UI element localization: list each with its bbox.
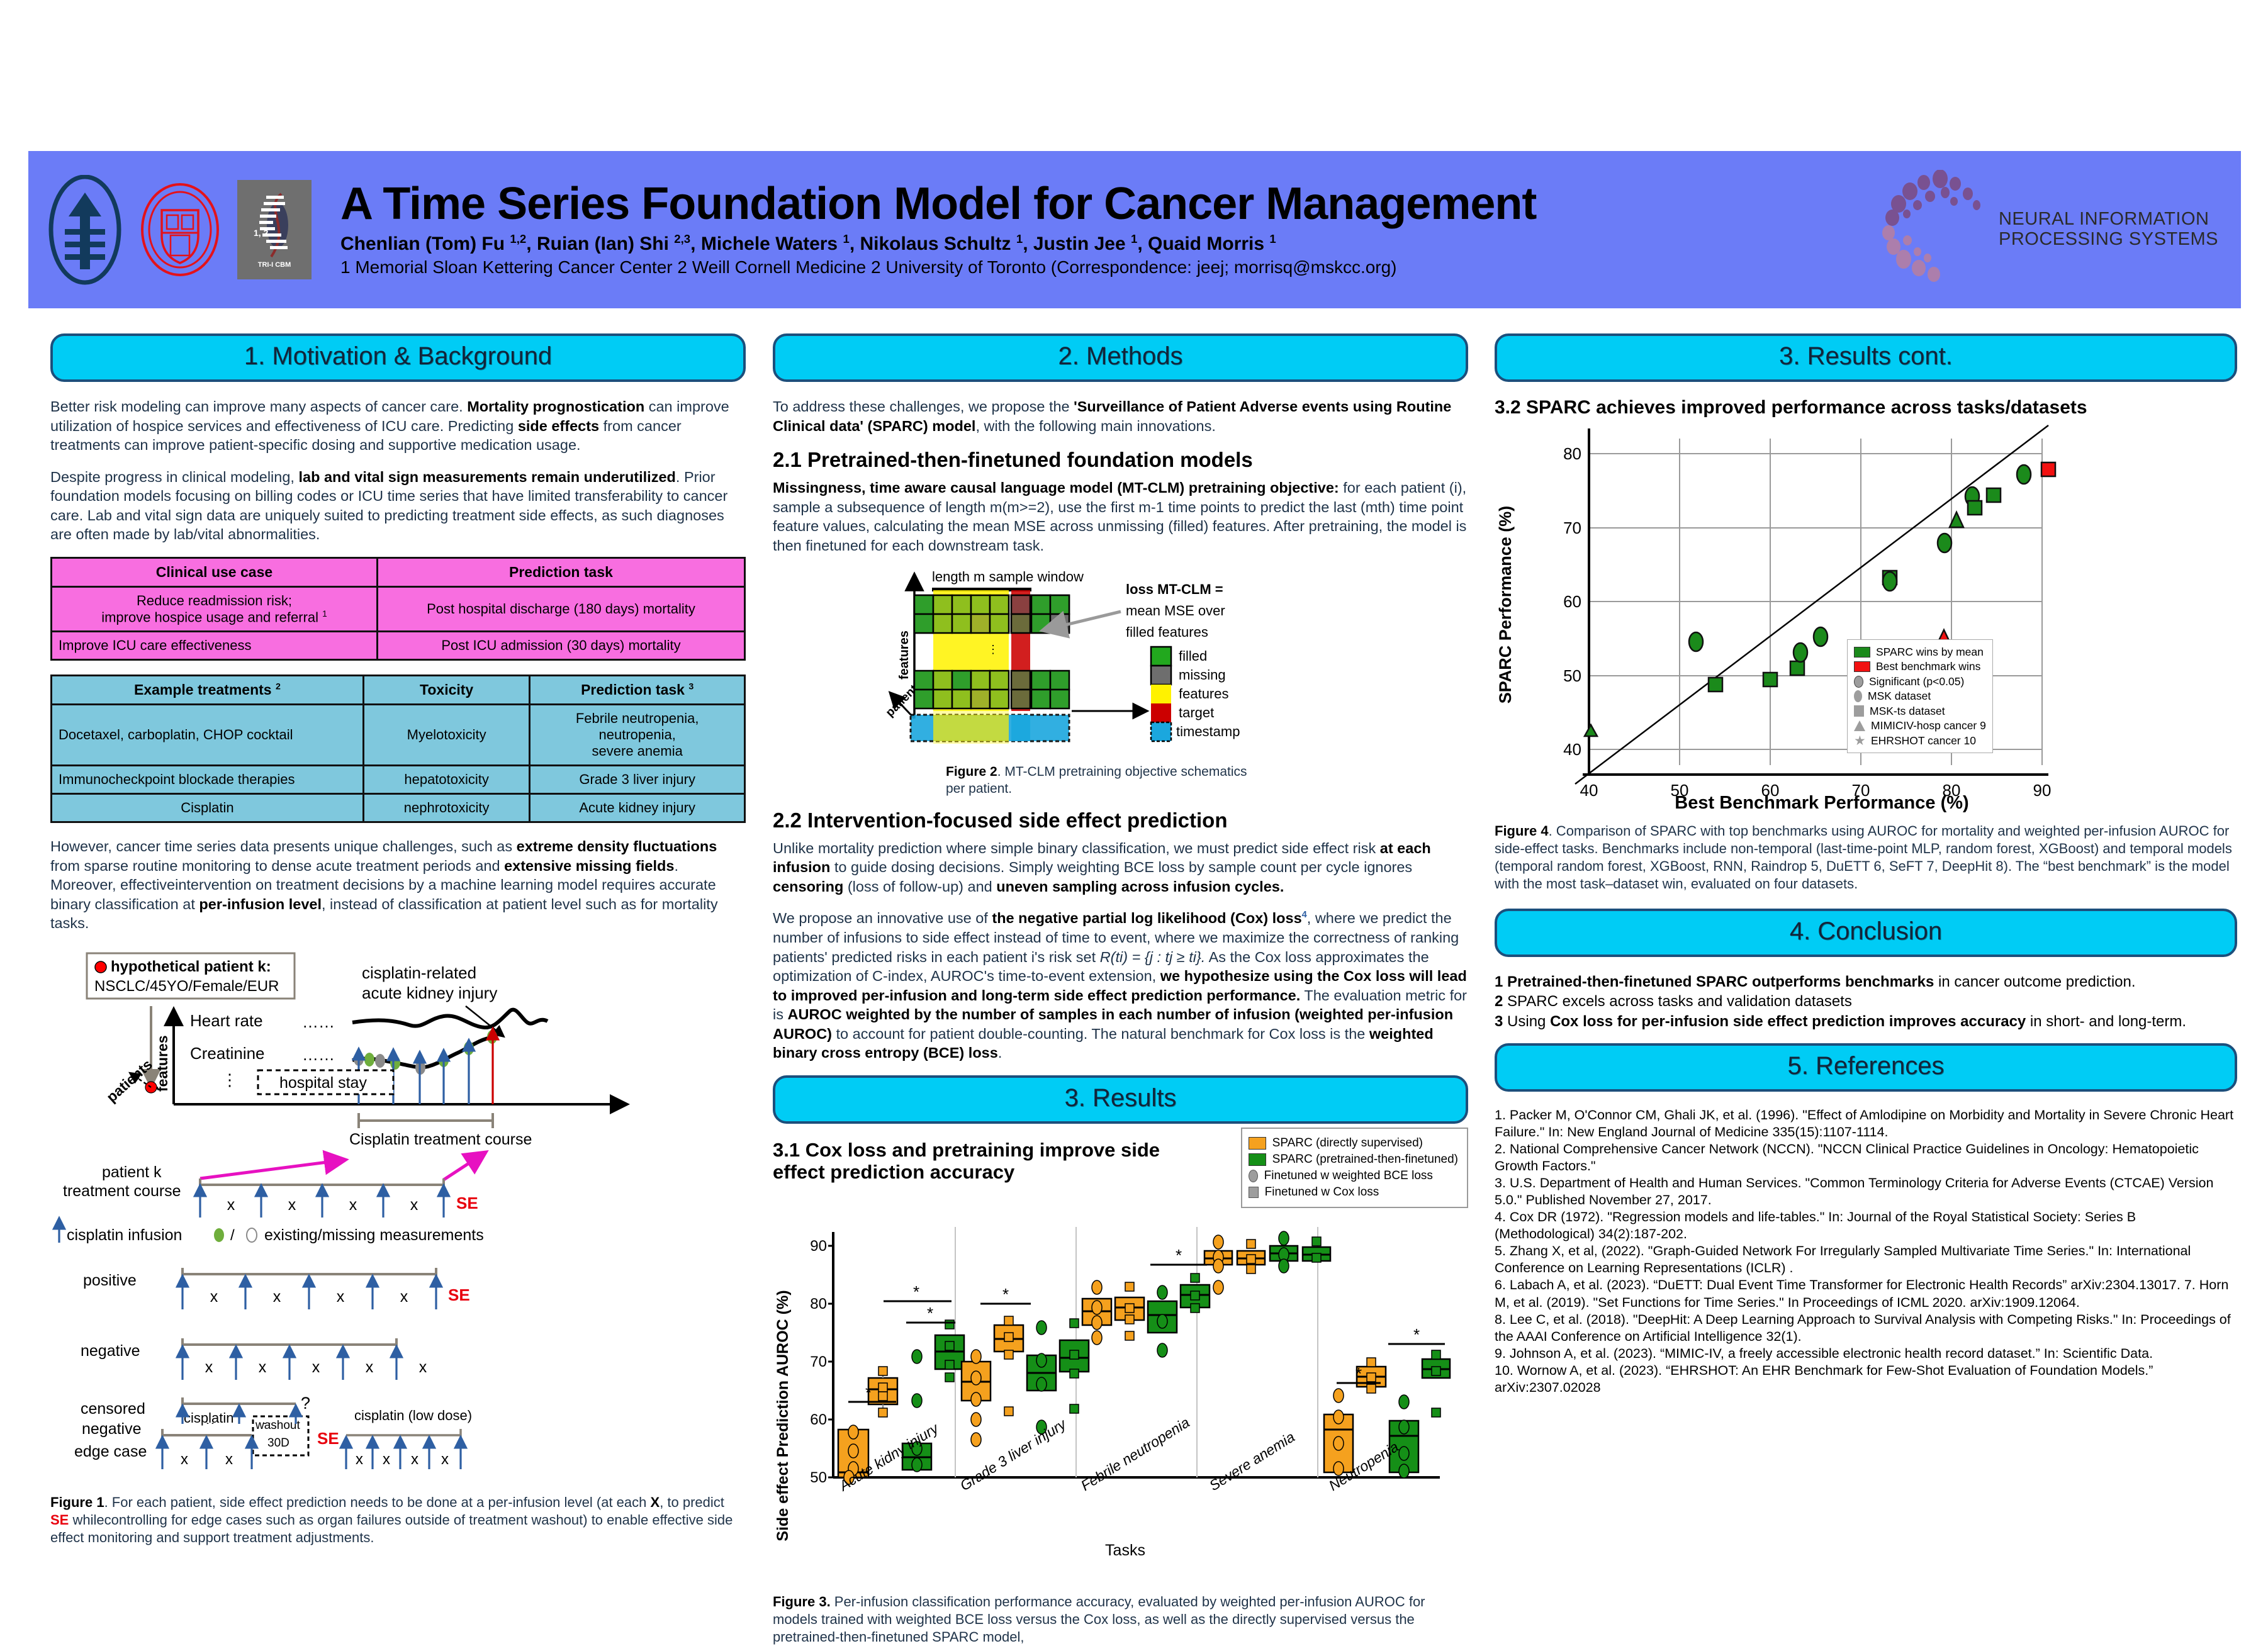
fig4-xtick: 40 — [1580, 781, 1598, 800]
list-item: 4. Cox DR (1972). "Regression models and… — [1495, 1209, 2237, 1243]
fig1-se-label: SE — [448, 1285, 470, 1304]
legend-label: MSK dataset — [1868, 690, 1931, 703]
clinical-use-case-table: Clinical use case Prediction task Reduce… — [50, 557, 746, 661]
fig1-x-mark: x — [411, 1451, 418, 1468]
neurips-swirl-icon — [1880, 170, 1990, 289]
text-run: , with the following main innovations. — [975, 418, 1215, 434]
fig4-ylabel: SPARC Performance (%) — [1496, 506, 1515, 704]
fig3-xtick: Severe anemia — [1206, 1428, 1298, 1494]
fig3-sig-mark: * — [1176, 1246, 1182, 1265]
conclusion-item-1: 1 Pretrained-then-finetuned SPARC outper… — [1495, 972, 2237, 992]
fig1-x-mark: x — [337, 1288, 345, 1306]
conclusion-number: 3 — [1495, 1013, 1503, 1030]
table-header-row: Clinical use case Prediction task — [52, 557, 745, 586]
list-item: 8. Lee C, et al. (2018). "DeepHit: A Dee… — [1495, 1311, 2237, 1345]
fig2-loss-line3: filled features — [1126, 624, 1208, 640]
legend-marker-ellipse — [1249, 1170, 1258, 1182]
conclusion-bold: Cox loss for per-infusion side effect pr… — [1550, 1013, 2026, 1030]
fig3-sig-mark: * — [1002, 1285, 1009, 1304]
page-title: A Time Series Foundation Model for Cance… — [340, 181, 1880, 227]
text-bold: extensive missing fields — [504, 858, 674, 874]
neurips-line-1: NEURAL INFORMATION — [1999, 210, 2218, 230]
fig1-x-mark: x — [210, 1288, 218, 1306]
text-bold: Mortality prognostication — [467, 398, 644, 415]
neurips-line-2: PROCESSING SYSTEMS — [1999, 230, 2218, 250]
fig2-axis-features: features — [897, 630, 911, 680]
text-bold: Missingness, time aware causal language … — [773, 479, 1339, 496]
fig1-x-mark: x — [441, 1451, 449, 1468]
table-header-row: Example treatments 2 Toxicity Prediction… — [52, 676, 745, 705]
caption-text: . For each patient, side effect predicti… — [104, 1494, 651, 1510]
fig3-xtick: Febrile neutropenia — [1078, 1414, 1193, 1494]
conclusion-text: SPARC excels across tasks and validation… — [1507, 993, 1852, 1010]
legend-marker-mskts — [1854, 705, 1864, 717]
methods-22-paragraph-1: Unlike mortality prediction where simple… — [773, 839, 1468, 897]
fig1-x-mark: x — [356, 1451, 363, 1468]
fig1-feature-creatinine: Creatinine — [190, 1044, 265, 1063]
fig1-question-mark: ? — [301, 1394, 310, 1413]
fig1-x-mark: x — [225, 1451, 233, 1468]
figure-4-legend: SPARC wins by mean Best benchmark wins S… — [1847, 639, 1993, 753]
legend-swatch-orange — [1249, 1137, 1266, 1150]
text-run: Unlike mortality prediction where simple… — [773, 840, 1380, 856]
figure-1-caption: Figure 1. For each patient, side effect … — [50, 1494, 746, 1547]
table-header-cell: Prediction task 3 — [530, 676, 745, 705]
figure-4-caption: Figure 4. Comparison of SPARC with top b… — [1495, 822, 2237, 893]
figure-3-svg: Side effect Prediction AUROC (%) 50 60 7… — [773, 1227, 1468, 1567]
section-header-conclusion: 4. Conclusion — [1495, 909, 2237, 957]
fig1-se-label: SE — [456, 1194, 478, 1212]
legend-item: MSK dataset — [1854, 690, 1986, 703]
subsection-3-2-heading: 3.2 SPARC achieves improved performance … — [1495, 397, 2237, 418]
table-row: Cisplatin nephrotoxicity Acute kidney in… — [52, 794, 745, 822]
tri-logo-superscript: 1, 2 — [254, 228, 269, 238]
text-bold: side effects — [518, 418, 599, 434]
text-run: (loss of follow-up) and — [843, 878, 996, 895]
fig4-ytick: 70 — [1563, 518, 1581, 537]
text-run: Better risk modeling can improve many as… — [50, 398, 467, 415]
fig1-x-mark: x — [366, 1358, 374, 1376]
fig3-ytick: 60 — [810, 1411, 827, 1428]
table-header-cell: Clinical use case — [52, 557, 378, 586]
section-header-results-cont: 3. Results cont. — [1495, 333, 2237, 382]
fig1-edge-line2: edge case — [74, 1443, 147, 1460]
fig1-legend-measurements: existing/missing measurements — [264, 1226, 484, 1244]
fig2-legend-timestamp: timestamp — [1176, 724, 1240, 739]
fig1-x-mark: x — [259, 1358, 267, 1376]
math-expression: R(ti) = {j : tj ≥ ti}. — [1100, 949, 1206, 965]
fig2-loss-line1: loss MT-CLM = — [1126, 581, 1223, 597]
legend-item: ★EHRSHOT cancer 10 — [1854, 734, 1986, 747]
text-run: However, cancer time series data present… — [50, 838, 517, 854]
table-cell: hepatotoxicity — [363, 766, 529, 794]
figure-3-caption: Figure 3. Per-infusion classification pe… — [773, 1593, 1468, 1646]
figure-1-diagram: hypothetical patient k: NSCLC/45YO/Femal… — [50, 946, 746, 1424]
column-motivation: 1. Motivation & Background Better risk m… — [50, 333, 746, 1547]
legend-label: Finetuned w Cox loss — [1265, 1185, 1379, 1199]
fig1-patientk-line2: treatment course — [63, 1182, 181, 1200]
fig1-x-mark: x — [181, 1451, 188, 1468]
fig1-dots-2: …… — [302, 1045, 335, 1064]
table-header-cell: Prediction task — [377, 557, 744, 586]
caption-label: Figure 3. — [773, 1594, 831, 1610]
fig1-x-mark: x — [206, 1418, 215, 1424]
legend-item: SPARC (directly supervised) — [1249, 1136, 1458, 1150]
msk-logo-icon — [47, 175, 123, 285]
fig1-feature-heart-rate: Heart rate — [190, 1011, 263, 1030]
motivation-paragraph-3: However, cancer time series data present… — [50, 837, 746, 933]
table-cell: Improve ICU care effectiveness — [52, 632, 378, 660]
conclusion-item-3: 3 Using Cox loss for per-infusion side e… — [1495, 1012, 2237, 1032]
table-row: Immunocheckpoint blockade therapies hepa… — [52, 766, 745, 794]
figure-4-chart: SPARC wins by mean Best benchmark wins S… — [1495, 422, 2237, 825]
caption-text: . Comparison of SPARC with top benchmark… — [1495, 823, 2232, 892]
fig3-ytick: 90 — [810, 1238, 827, 1255]
figure-2-diagram: features patients length m sample window — [773, 568, 1468, 763]
fig3-ytick: 80 — [810, 1296, 827, 1313]
fig1-legend-infusion: cisplatin infusion — [67, 1226, 182, 1244]
figure-3-chart: 3.1 Cox loss and pretraining improve sid… — [773, 1139, 1468, 1504]
conclusion-item-2: 2 SPARC excels across tasks and validati… — [1495, 992, 2237, 1012]
legend-label: MSK-ts dataset — [1870, 705, 1945, 718]
text-bold: lab and vital sign measurements remain u… — [298, 469, 675, 485]
table-row: Docetaxel, carboplatin, CHOP cocktail My… — [52, 705, 745, 766]
table-cell: Reduce readmission risk;improve hospice … — [52, 586, 378, 631]
legend-label: Significant (p<0.05) — [1869, 675, 1964, 688]
section-header-results: 3. Results — [773, 1075, 1468, 1124]
list-item: 9. Johnson A, et al. (2023). “MIMIC-IV, … — [1495, 1345, 2237, 1362]
table-cell: Acute kidney injury — [530, 794, 745, 822]
fig2-legend-features: features — [1179, 686, 1229, 702]
legend-label: SPARC wins by mean — [1876, 646, 1984, 659]
fig1-annot-line2: acute kidney injury — [362, 983, 497, 1002]
table-cell: Post hospital discharge (180 days) morta… — [377, 586, 744, 631]
fig1-edge-30d: 30D — [267, 1436, 289, 1450]
legend-label: Best benchmark wins — [1876, 660, 1980, 673]
caption-se: SE — [50, 1512, 69, 1528]
methods-intro-paragraph: To address these challenges, we propose … — [773, 397, 1468, 435]
fig4-ytick: 50 — [1563, 666, 1581, 685]
fig1-hospital-stay: hospital stay — [279, 1074, 367, 1092]
fig1-x-mark: x — [400, 1288, 408, 1306]
author-list: Chenlian (Tom) Fu 1,2, Ruian (Ian) Shi 2… — [340, 232, 1880, 256]
neurips-logo-group: NEURAL INFORMATION PROCESSING SYSTEMS — [1880, 170, 2241, 289]
section-header-methods: 2. Methods — [773, 333, 1468, 382]
text-run: To address these challenges, we propose … — [773, 398, 1074, 415]
caption-label: Figure 2 — [946, 764, 997, 779]
list-item: 3. U.S. Department of Health and Human S… — [1495, 1175, 2237, 1209]
conclusion-text: in cancer outcome prediction. — [1934, 973, 2135, 990]
fig1-course-label: Cisplatin treatment course — [349, 1131, 532, 1148]
fig3-sig-mark: * — [1356, 1364, 1362, 1383]
fig1-x-mark: x — [288, 1196, 296, 1214]
section-header-references: 5. References — [1495, 1043, 2237, 1092]
fig1-x-mark: x — [410, 1196, 418, 1214]
fig3-sig-mark: * — [865, 1383, 872, 1402]
table-cell: Myelotoxicity — [363, 705, 529, 766]
fig4-ytick: 80 — [1563, 444, 1581, 463]
list-item: 2. National Comprehensive Cancer Network… — [1495, 1141, 2237, 1175]
conclusion-number: 1 — [1495, 973, 1503, 990]
fig2-legend-missing: missing — [1179, 667, 1226, 683]
legend-marker-ehrshot: ★ — [1854, 734, 1865, 747]
table-cell: Cisplatin — [52, 794, 364, 822]
fig4-xlabel: Best Benchmark Performance (%) — [1675, 793, 1968, 812]
fig2-loss-line2: mean MSE over — [1126, 603, 1225, 619]
reference-superscript: 4 — [1302, 910, 1307, 921]
legend-marker-square — [1249, 1187, 1259, 1198]
figure-3-legend: SPARC (directly supervised) SPARC (pretr… — [1241, 1128, 1468, 1208]
column-results-conclusion: 3. Results cont. 3.2 SPARC achieves impr… — [1495, 333, 2237, 1396]
legend-swatch-green — [1249, 1153, 1266, 1166]
table-cell: Immunocheckpoint blockade therapies — [52, 766, 364, 794]
table-header-cell: Example treatments 2 — [52, 676, 364, 705]
affiliation-list: 1 Memorial Sloan Kettering Cancer Center… — [340, 256, 1880, 278]
example-treatments-table: Example treatments 2 Toxicity Prediction… — [50, 675, 746, 823]
list-item: 5. Zhang X, et al, (2022). "Graph-Guided… — [1495, 1243, 2237, 1277]
text-run: from sparse routine monitoring to dense … — [50, 858, 504, 874]
text-run: to guide dosing decisions. Simply weight… — [830, 859, 1412, 875]
fig1-legend-slash: / — [230, 1227, 235, 1244]
figure-1-svg: hypothetical patient k: NSCLC/45YO/Femal… — [50, 946, 746, 1424]
legend-label: MIMICIV-hosp cancer 9 — [1871, 719, 1986, 732]
text-run: Despite progress in clinical modeling, — [50, 469, 298, 485]
list-item: 10. Wornow A, et al. (2023). “EHRSHOT: A… — [1495, 1362, 2237, 1396]
conclusion-text: in short- and long-term. — [2026, 1013, 2186, 1030]
caption-text: Per-infusion classification performance … — [773, 1594, 1425, 1645]
neurips-label: NEURAL INFORMATION PROCESSING SYSTEMS — [1999, 210, 2218, 250]
table-cell: Febrile neutropenia,neutropenia,severe a… — [530, 705, 745, 766]
fig1-patientk-line1: patient k — [102, 1163, 162, 1181]
fig3-ytick: 70 — [810, 1353, 827, 1370]
poster-header: 1, 2 TRI-I CBM A Time Series Foundation … — [28, 151, 2241, 308]
fig1-x-mark: x — [263, 1418, 271, 1424]
legend-item: Finetuned w Cox loss — [1249, 1185, 1458, 1199]
caption-x: X — [651, 1494, 660, 1510]
legend-item: SPARC wins by mean — [1854, 646, 1986, 659]
fig3-sig-mark: * — [913, 1282, 919, 1301]
figure-2-svg: features patients length m sample window — [869, 568, 1373, 763]
figure-2-caption: Figure 2. MT-CLM pretraining objective s… — [946, 764, 1260, 797]
fig4-xtick: 90 — [2033, 781, 2052, 800]
legend-item: MIMICIV-hosp cancer 9 — [1854, 719, 1986, 732]
table-cell: Grade 3 liver injury — [530, 766, 745, 794]
legend-label: SPARC (directly supervised) — [1272, 1136, 1423, 1150]
fig1-patient-line2: NSCLC/45YO/Female/EUR — [94, 978, 279, 995]
methods-22-paragraph-2: We propose an innovative use of the nega… — [773, 909, 1468, 1062]
section-header-motivation: 1. Motivation & Background — [50, 333, 746, 382]
legend-marker-mimic — [1854, 720, 1865, 731]
subsection-3-1-heading: 3.1 Cox loss and pretraining improve sid… — [773, 1139, 1188, 1184]
legend-marker-significant — [1854, 676, 1863, 688]
table-cell: Post ICU admission (30 days) mortality — [377, 632, 744, 660]
fig1-annot-line1: cisplatin-related — [362, 963, 476, 982]
column-methods: 2. Methods To address these challenges, … — [773, 333, 1468, 1646]
conclusion-number: 2 — [1495, 993, 1503, 1010]
table-row: Reduce readmission risk;improve hospice … — [52, 586, 745, 631]
table-header-cell: Toxicity — [363, 676, 529, 705]
fig3-xlabel: Tasks — [1105, 1542, 1145, 1559]
legend-marker-msk — [1854, 690, 1862, 702]
fig1-x-mark: x — [312, 1358, 320, 1376]
fig1-axis-patients: patients — [103, 1056, 155, 1105]
fig1-row-censored: censored — [81, 1400, 145, 1418]
fig3-ytick: 50 — [810, 1469, 827, 1486]
table-cell: Docetaxel, carboplatin, CHOP cocktail — [52, 705, 364, 766]
text-bold: censoring — [773, 878, 843, 895]
legend-item: Significant (p<0.05) — [1854, 675, 1986, 688]
fig1-row-negative: negative — [81, 1342, 140, 1360]
fig3-xtick: Grade 3 liver injury — [957, 1415, 1070, 1494]
legend-item: Finetuned w weighted BCE loss — [1249, 1169, 1458, 1183]
fig3-sig-mark: * — [927, 1304, 933, 1323]
methods-mtclm-paragraph: Missingness, time aware causal language … — [773, 478, 1468, 555]
fig1-x-mark: x — [419, 1358, 427, 1376]
legend-item: Best benchmark wins — [1854, 660, 1986, 673]
fig1-x-mark: x — [273, 1288, 281, 1306]
subsection-2-1-heading: 2.1 Pretrained-then-finetuned foundation… — [773, 448, 1468, 472]
tri-i-cbm-logo-icon: 1, 2 TRI-I CBM — [237, 180, 312, 279]
motivation-paragraph-1: Better risk modeling can improve many as… — [50, 397, 746, 455]
text-bold: extreme density fluctuations — [517, 838, 717, 854]
table-row: Improve ICU care effectiveness Post ICU … — [52, 632, 745, 660]
legend-label: SPARC (pretrained-then-finetuned) — [1272, 1153, 1458, 1167]
caption-text: whilecontrolling for edge cases such as … — [50, 1512, 733, 1545]
legend-swatch-green — [1854, 647, 1870, 658]
fig4-ytick: 60 — [1563, 592, 1581, 611]
motivation-paragraph-2: Despite progress in clinical modeling, l… — [50, 467, 746, 544]
text-bold: per-infusion level — [199, 896, 322, 912]
title-block: A Time Series Foundation Model for Cance… — [312, 181, 1880, 278]
fig2-window-label: length m sample window — [932, 569, 1084, 585]
legend-label: EHRSHOT cancer 10 — [1871, 734, 1976, 747]
logo-group: 1, 2 TRI-I CBM — [28, 175, 312, 285]
table-cell: nephrotoxicity — [363, 794, 529, 822]
fig1-dots-1: …… — [302, 1012, 335, 1031]
fig1-x-mark: x — [383, 1451, 390, 1468]
conclusion-list: 1 Pretrained-then-finetuned SPARC outper… — [1495, 972, 2237, 1032]
text-bold: the negative partial log likelihood (Cox… — [992, 910, 1301, 926]
legend-swatch-red — [1854, 661, 1870, 672]
fig1-x-mark: x — [227, 1196, 235, 1214]
fig1-x-mark: x — [205, 1358, 213, 1376]
text-bold: uneven sampling across infusion cycles. — [996, 878, 1284, 895]
tri-logo-label: TRI-I CBM — [258, 261, 291, 269]
subsection-2-2-heading: 2.2 Intervention-focused side effect pre… — [773, 809, 1468, 832]
text-run: We propose an innovative use of — [773, 910, 992, 926]
legend-label: Finetuned w weighted BCE loss — [1264, 1169, 1433, 1183]
fig1-patient-line1: hypothetical patient k: — [111, 958, 271, 975]
caption-text: , to predict — [660, 1494, 724, 1510]
fig1-axis-features: features — [154, 1035, 171, 1091]
figure-4-svg: SPARC Performance (%) — [1495, 422, 2237, 812]
legend-item: MSK-ts dataset — [1854, 705, 1986, 718]
caption-label: Figure 1 — [50, 1494, 104, 1510]
reference-list: 1. Packer M, O'Connor CM, Ghali JK, et a… — [1495, 1107, 2237, 1396]
caption-label: Figure 4 — [1495, 823, 1549, 839]
text-run: . — [998, 1044, 1002, 1061]
list-item: 1. Packer M, O'Connor CM, Ghali JK, et a… — [1495, 1107, 2237, 1141]
fig1-vertical-dots: ⋮ — [222, 1070, 238, 1089]
fig2-legend-target: target — [1179, 705, 1214, 720]
legend-item: SPARC (pretrained-then-finetuned) — [1249, 1153, 1458, 1167]
fig2-ellipsis: ⋮ — [987, 643, 999, 656]
fig1-row-positive: positive — [83, 1272, 137, 1289]
weill-cornell-logo-icon — [139, 182, 221, 277]
fig3-ylabel: Side effect Prediction AUROC (%) — [774, 1290, 792, 1541]
fig1-se-label: SE — [317, 1429, 339, 1448]
list-item: 6. Labach A, et al. (2023). “DuETT: Dual… — [1495, 1277, 2237, 1311]
fig4-ytick: 40 — [1563, 740, 1581, 759]
fig2-legend-filled: filled — [1179, 648, 1207, 664]
text-run: to account for patient double-counting. … — [832, 1026, 1369, 1042]
conclusion-prefix: Using — [1507, 1013, 1550, 1030]
fig3-sig-mark: * — [1413, 1325, 1420, 1344]
conclusion-bold: Pretrained-then-finetuned SPARC outperfo… — [1507, 973, 1934, 990]
fig1-x-mark: x — [349, 1196, 357, 1214]
